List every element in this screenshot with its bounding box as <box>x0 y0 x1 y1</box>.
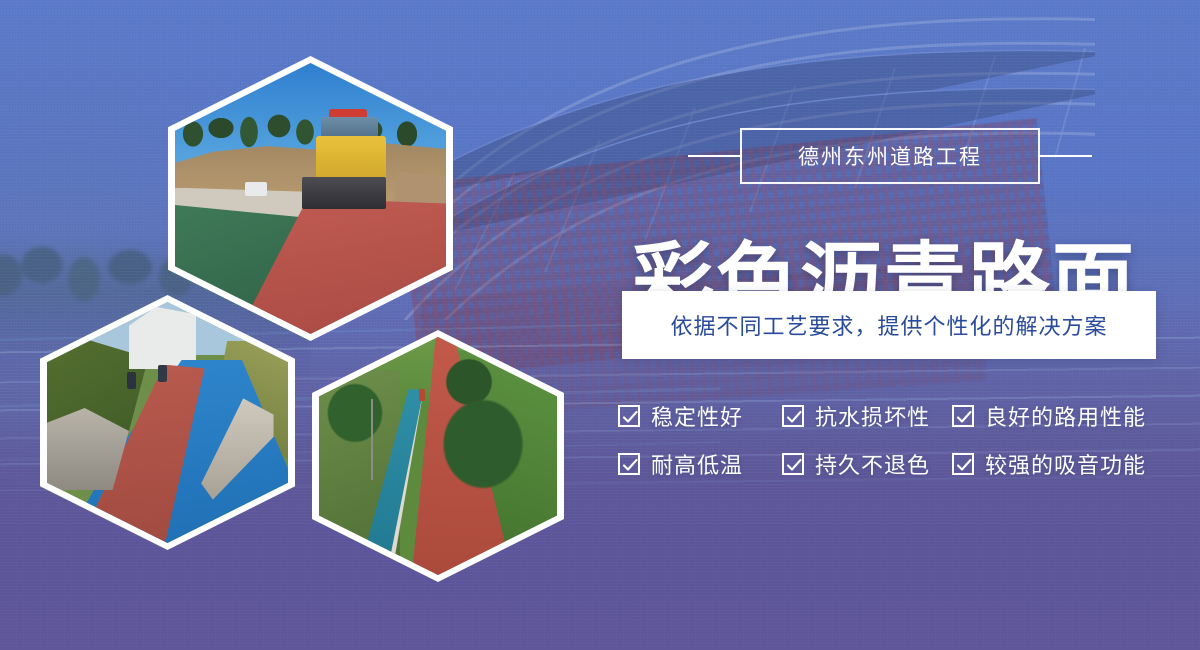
brand-label-box: 德州东州道路工程 <box>740 128 1040 184</box>
check-icon <box>618 405 640 427</box>
feature-label: 稳定性好 <box>651 400 743 432</box>
feature-label: 良好的路用性能 <box>985 400 1146 432</box>
feature-item: 较强的吸音功能 <box>952 448 1178 480</box>
check-icon <box>782 453 804 475</box>
feature-label: 抗水损坏性 <box>815 400 930 432</box>
check-icon <box>782 405 804 427</box>
photo-greenway-image <box>319 337 557 575</box>
subtitle-text: 依据不同工艺要求，提供个性化的解决方案 <box>670 309 1107 341</box>
promo-banner: 德州东州道路工程 彩色沥青路面 依据不同工艺要求，提供个性化的解决方案 稳定性好… <box>0 0 1200 650</box>
brand-label-text: 德州东州道路工程 <box>798 141 982 171</box>
feature-item: 良好的路用性能 <box>952 400 1178 432</box>
feature-item: 耐高低温 <box>618 448 782 480</box>
brand-label-rule-left <box>688 155 742 157</box>
feature-list: 稳定性好 抗水损坏性 良好的路用性能 耐高低温 持久不退色 <box>618 392 1178 488</box>
brand-label-rule-right <box>1038 155 1092 157</box>
feature-label: 较强的吸音功能 <box>985 448 1146 480</box>
feature-item: 抗水损坏性 <box>782 400 952 432</box>
check-icon <box>618 453 640 475</box>
feature-item: 稳定性好 <box>618 400 782 432</box>
feature-item: 持久不退色 <box>782 448 952 480</box>
check-icon <box>952 405 974 427</box>
brand-label-row: 德州东州道路工程 <box>688 128 1092 184</box>
feature-label: 持久不退色 <box>815 448 930 480</box>
subtitle-panel: 依据不同工艺要求，提供个性化的解决方案 <box>622 291 1156 359</box>
check-icon <box>952 453 974 475</box>
photo-road-roller-image <box>175 63 446 334</box>
feature-label: 耐高低温 <box>651 448 743 480</box>
photo-blue-red-road-image <box>47 302 288 543</box>
